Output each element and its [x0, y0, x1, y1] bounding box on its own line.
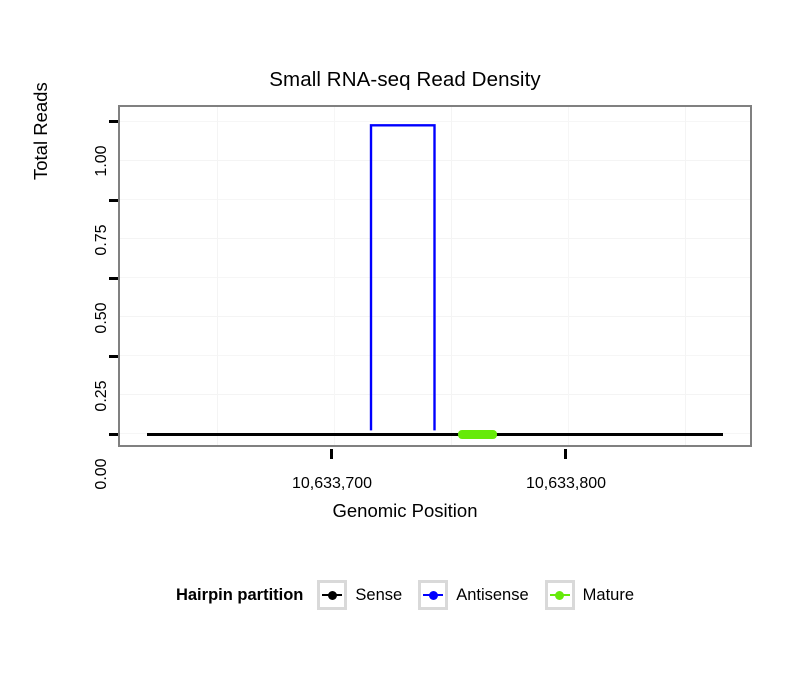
plot-panel	[118, 105, 752, 447]
series-line-antisense	[120, 107, 750, 445]
chart-root: Small RNA-seq Read Density Total Reads 1…	[0, 0, 810, 690]
x-axis-label: Genomic Position	[0, 500, 810, 522]
legend-label-sense: Sense	[355, 586, 402, 605]
legend-key-dot-antisense	[429, 591, 438, 600]
x-tick-label-10633700: 10,633,700	[252, 475, 412, 493]
legend-key-sense	[317, 580, 347, 610]
y-tick-label-0-50: 0.50	[93, 278, 111, 358]
legend-entry-sense[interactable]: Sense	[317, 580, 402, 610]
legend-label-antisense: Antisense	[456, 586, 528, 605]
legend-entry-antisense[interactable]: Antisense	[418, 580, 528, 610]
legend-key-dot-sense	[328, 591, 337, 600]
chart-title: Small RNA-seq Read Density	[0, 68, 810, 92]
legend-label-mature: Mature	[583, 586, 634, 605]
antisense-peak-path	[371, 125, 434, 430]
y-tick-label-0-25: 0.25	[93, 356, 111, 436]
plot-area	[120, 107, 750, 445]
legend-key-dot-mature	[555, 591, 564, 600]
y-tick-label-1-00: 1.00	[93, 121, 111, 201]
legend: Hairpin partition Sense Antisense Mature	[0, 580, 810, 610]
x-tick-mark-10633700	[330, 449, 333, 459]
series-segment-mature	[458, 430, 498, 439]
y-tick-label-0-75: 0.75	[93, 200, 111, 280]
legend-key-mature	[545, 580, 575, 610]
legend-key-antisense	[418, 580, 448, 610]
x-tick-mark-10633800	[564, 449, 567, 459]
x-tick-label-10633800: 10,633,800	[486, 475, 646, 493]
legend-entry-mature[interactable]: Mature	[545, 580, 634, 610]
legend-title: Hairpin partition	[176, 586, 303, 605]
y-axis-label: Total Reads	[30, 0, 52, 180]
